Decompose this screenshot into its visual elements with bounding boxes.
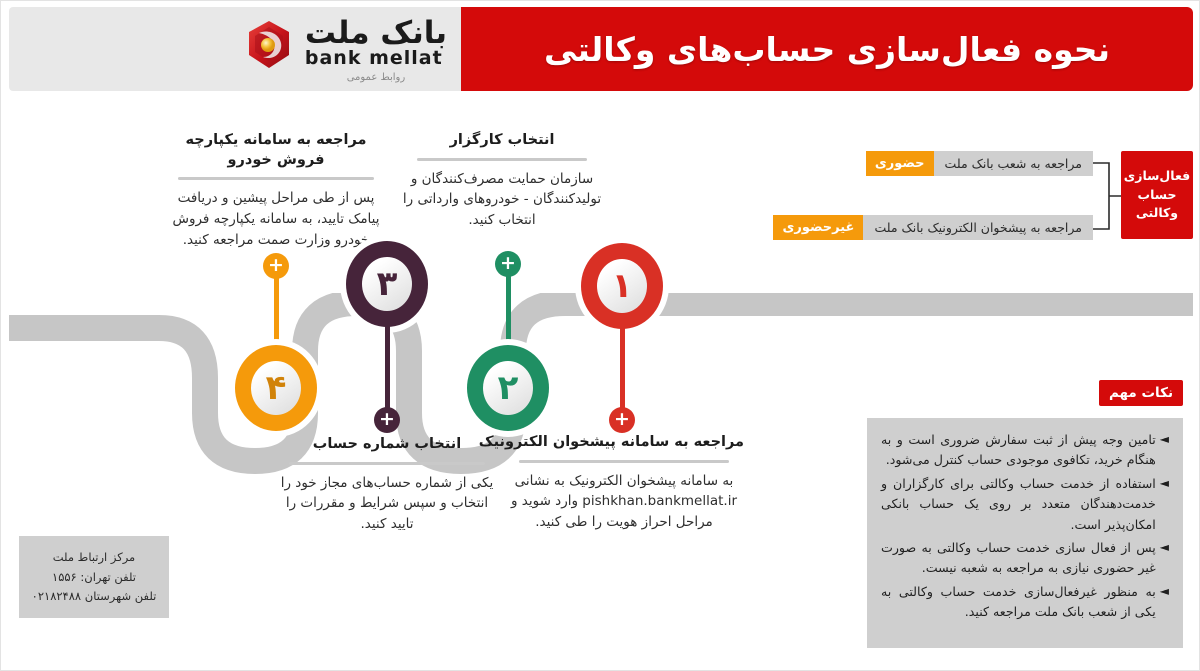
step-1-circle[interactable]: ۱ xyxy=(581,243,663,329)
red-box-line-2: حساب xyxy=(1138,186,1177,205)
step-4-divider xyxy=(178,177,374,180)
step-2-circle[interactable]: ۲ xyxy=(467,345,549,431)
step-4-text: مراجعه به سامانه یکپارچه فروش خودرو پس ا… xyxy=(164,131,388,251)
step-3-number: ۳ xyxy=(362,257,412,311)
logo-panel: بانک ملت bank mellat روابط عمومی xyxy=(9,7,461,91)
bullet-icon: ◄ xyxy=(1160,430,1169,471)
row-text-gheyr-hozouri: مراجعه به پیشخوان الکترونیک بانک ملت xyxy=(863,215,1093,240)
badge-gheyr-hozouri: غیرحضوری xyxy=(773,215,863,240)
step-2-body: سازمان حمایت مصرف‌کنندگان و تولیدکنندگان… xyxy=(394,169,610,232)
plus-glyph: + xyxy=(614,410,630,429)
step-3-circle[interactable]: ۳ xyxy=(346,241,428,327)
step-1-number: ۱ xyxy=(597,259,647,313)
red-box-line-1: فعال‌سازی xyxy=(1124,167,1190,186)
step-3-body: یکی از شماره حساب‌های مجاز خود را انتخاب… xyxy=(279,473,495,536)
step-1-body: به سامانه پیشخوان الکترونیک به نشانی pis… xyxy=(504,471,744,534)
badge-hozouri: حضوری xyxy=(866,151,934,176)
note-item: ◄ استفاده از خدمت حساب وکالتی برای کارگز… xyxy=(881,474,1169,535)
step-4-circle[interactable]: ۴ xyxy=(235,345,317,431)
step-3-text: انتخاب شماره حساب یکی از شماره حساب‌های … xyxy=(279,435,495,535)
diagram-row-presence: حضوری مراجعه به شعب بانک ملت xyxy=(866,151,1093,176)
bullet-icon: ◄ xyxy=(1160,582,1169,623)
step-3-stem xyxy=(385,325,390,415)
step-4-number: ۴ xyxy=(251,361,301,415)
step-2-text: انتخاب کارگزار سازمان حمایت مصرف‌کنندگان… xyxy=(394,131,610,231)
step-2-divider xyxy=(417,158,587,161)
title-banner: نحوه فعال‌سازی حساب‌های وکالتی xyxy=(461,7,1193,91)
page-header: بانک ملت bank mellat روابط عمومی نحوه فع… xyxy=(9,7,1193,91)
logo-wordmark: بانک ملت bank mellat روابط عمومی xyxy=(305,15,447,83)
note-item: ◄ تامین وجه پیش از ثبت سفارش ضروری است و… xyxy=(881,430,1169,471)
important-notes-panel: ◄ تامین وجه پیش از ثبت سفارش ضروری است و… xyxy=(867,418,1183,648)
note-text: تامین وجه پیش از ثبت سفارش ضروری است و ب… xyxy=(881,430,1156,471)
step-2-number: ۲ xyxy=(483,361,533,415)
bullet-icon: ◄ xyxy=(1160,538,1169,579)
plus-glyph: + xyxy=(268,256,284,275)
step-1-stem xyxy=(620,327,625,415)
important-notes-tab: نکات مهم xyxy=(1099,380,1183,406)
step-4-title: مراجعه به سامانه یکپارچه فروش خودرو xyxy=(164,131,388,170)
step-4-stem xyxy=(274,273,279,351)
step-1-title: مراجعه به سامانه پیشخوان الکترونیک xyxy=(504,433,744,453)
contact-line-1: مرکز ارتباط ملت xyxy=(53,550,135,565)
step-1-plus-icon: + xyxy=(609,407,635,433)
page-title: نحوه فعال‌سازی حساب‌های وکالتی xyxy=(544,30,1110,69)
red-box-line-3: وکالتی xyxy=(1136,204,1178,223)
note-text: پس از فعال سازی خدمت حساب وکالتی به صورت… xyxy=(881,538,1156,579)
activation-red-box: فعال‌سازی حساب وکالتی xyxy=(1121,151,1193,239)
note-text: استفاده از خدمت حساب وکالتی برای کارگزار… xyxy=(881,474,1156,535)
diagram-row-nonpresence: غیرحضوری مراجعه به پیشخوان الکترونیک بان… xyxy=(773,215,1093,240)
bank-logo: بانک ملت bank mellat روابط عمومی xyxy=(241,15,447,83)
logo-text-en: bank mellat xyxy=(305,48,447,69)
step-2-title: انتخاب کارگزار xyxy=(394,131,610,151)
step-1-divider xyxy=(519,460,729,463)
step-2-stem xyxy=(506,271,511,351)
step-4-body: پس از طی مراحل پیشین و دریافت پیامک تایی… xyxy=(164,188,388,251)
logo-text-fa: بانک ملت xyxy=(305,17,447,50)
plus-glyph: + xyxy=(500,254,516,273)
activation-diagram: فعال‌سازی حساب وکالتی حضوری مراجعه به شع… xyxy=(729,143,1193,263)
infographic-page: بانک ملت bank mellat روابط عمومی نحوه فع… xyxy=(0,0,1200,671)
step-3-title: انتخاب شماره حساب xyxy=(279,435,495,455)
step-1-text: مراجعه به سامانه پیشخوان الکترونیک به سا… xyxy=(504,433,744,533)
logo-subtitle: روابط عمومی xyxy=(305,72,447,83)
note-text: به منظور غیرفعال‌سازی خدمت حساب وکالتی ب… xyxy=(881,582,1156,623)
contact-line-3: تلفن شهرستان ۰۲۱۸۲۴۸۸ xyxy=(32,589,157,604)
plus-glyph: + xyxy=(379,410,395,429)
diagram-bracket xyxy=(1093,157,1121,235)
note-item: ◄ پس از فعال سازی خدمت حساب وکالتی به صو… xyxy=(881,538,1169,579)
contact-line-2: تلفن تهران: ۱۵۵۶ xyxy=(52,570,136,585)
bullet-icon: ◄ xyxy=(1160,474,1169,535)
note-item: ◄ به منظور غیرفعال‌سازی خدمت حساب وکالتی… xyxy=(881,582,1169,623)
row-text-hozouri: مراجعه به شعب بانک ملت xyxy=(934,151,1093,176)
step-3-divider xyxy=(289,462,485,465)
infographic-canvas: مراجعه به سامانه یکپارچه فروش خودرو پس ا… xyxy=(9,93,1193,664)
contact-box: مرکز ارتباط ملت تلفن تهران: ۱۵۵۶ تلفن شه… xyxy=(19,536,169,618)
step-3-plus-icon: + xyxy=(374,407,400,433)
bank-mellat-logo-icon xyxy=(241,17,297,73)
